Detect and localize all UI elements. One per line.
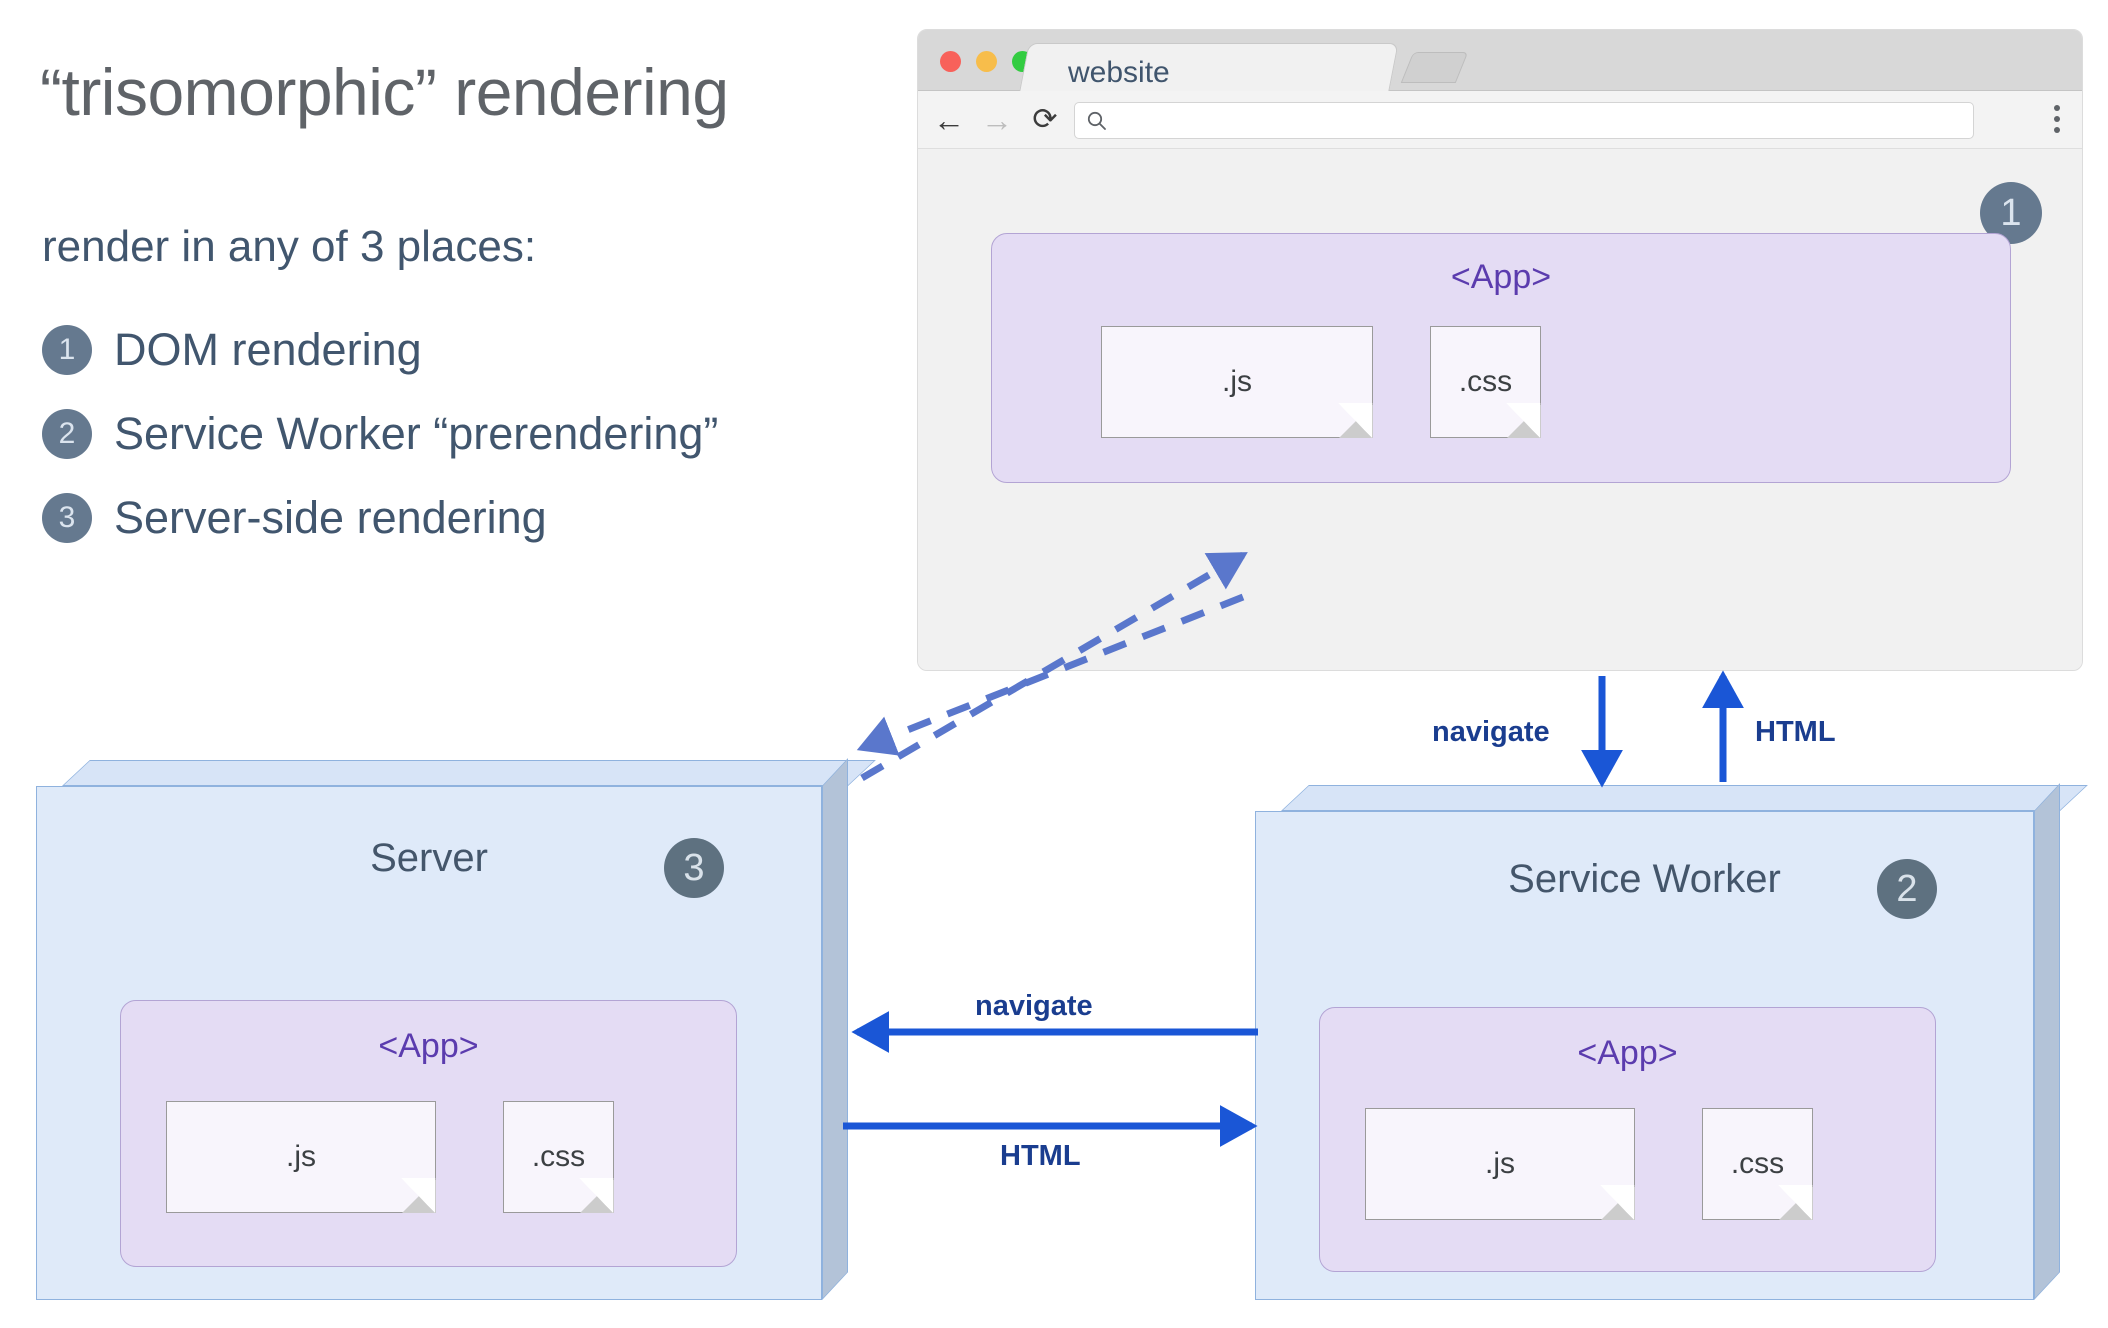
page-title: “trisomorphic” rendering [40,58,729,127]
list-badge-1: 1 [42,325,92,375]
css-file-sheet: .css [1702,1108,1813,1220]
address-bar[interactable] [1074,102,1974,139]
page-fold-mask [579,1178,614,1213]
list-item: 3 Server-side rendering [42,486,718,550]
sw-box-side-face [2034,783,2060,1300]
page-subtitle: render in any of 3 places: [42,222,536,272]
list-badge-3: 3 [42,493,92,543]
back-arrow-icon[interactable]: ← [932,103,966,137]
address-bar-input[interactable] [1119,103,1967,138]
browser-tab-bar: website [918,30,2082,91]
list-item-label: Service Worker “prerendering” [114,408,718,460]
page-fold-mask [1338,403,1373,438]
css-file-sheet: .css [1430,326,1541,438]
server-box-top-face [62,760,876,786]
sw-step-badge: 2 [1877,859,1937,919]
browser-viewport: 1 <App> .js .css [918,149,2082,670]
js-file-sheet: .js [1365,1108,1635,1220]
app-panel-title: <App> [992,258,2010,297]
page-fold-mask [1778,1185,1813,1220]
app-panel-sw: <App> .js .css [1319,1007,1936,1272]
app-panel-title: <App> [1320,1034,1935,1073]
window-controls[interactable] [940,51,1033,72]
service-worker-box: Service Worker 2 <App> .js .css [1255,785,2060,1300]
js-file-sheet: .js [166,1101,436,1213]
close-button-icon[interactable] [940,51,961,72]
list-item-label: Server-side rendering [114,492,547,544]
kebab-menu-icon[interactable] [2054,105,2060,133]
js-file-label: .js [1102,365,1372,399]
label-navigate-horizontal: navigate [975,990,1093,1023]
server-step-badge: 3 [664,838,724,898]
minimize-button-icon[interactable] [976,51,997,72]
server-box-side-face [822,758,848,1300]
new-tab-button[interactable] [1401,52,1469,83]
app-panel-title: <App> [121,1027,736,1066]
css-file-label: .css [1703,1147,1812,1181]
search-icon [1085,109,1109,133]
page-fold-mask [401,1178,436,1213]
diagram-canvas: “trisomorphic” rendering render in any o… [0,0,2108,1328]
label-html-horizontal: HTML [1000,1140,1081,1173]
browser-toolbar: ← → ⟳ [918,91,2082,149]
css-file-label: .css [504,1140,613,1174]
page-fold-mask [1506,403,1541,438]
browser-window: website ← → ⟳ 1 <App> [917,29,2083,671]
js-file-label: .js [167,1140,435,1174]
forward-arrow-icon[interactable]: → [980,103,1014,137]
css-file-label: .css [1431,365,1540,399]
app-panel-server: <App> .js .css [120,1000,737,1267]
label-navigate-vertical: navigate [1432,716,1550,749]
list-badge-2: 2 [42,409,92,459]
list-item: 1 DOM rendering [42,318,718,382]
css-file-sheet: .css [503,1101,614,1213]
sw-box-top-face [1281,785,2088,811]
label-html-vertical: HTML [1755,716,1836,749]
js-file-sheet: .js [1101,326,1373,438]
list-item: 2 Service Worker “prerendering” [42,402,718,466]
rendering-places-list: 1 DOM rendering 2 Service Worker “preren… [42,318,718,570]
server-box: Server 3 <App> .js .css [36,760,848,1300]
reload-icon[interactable]: ⟳ [1028,103,1062,137]
app-panel-browser: <App> .js .css [991,233,2011,483]
page-fold-mask [1600,1185,1635,1220]
list-item-label: DOM rendering [114,324,422,376]
js-file-label: .js [1366,1147,1634,1181]
browser-tab-label: website [1068,56,1170,90]
